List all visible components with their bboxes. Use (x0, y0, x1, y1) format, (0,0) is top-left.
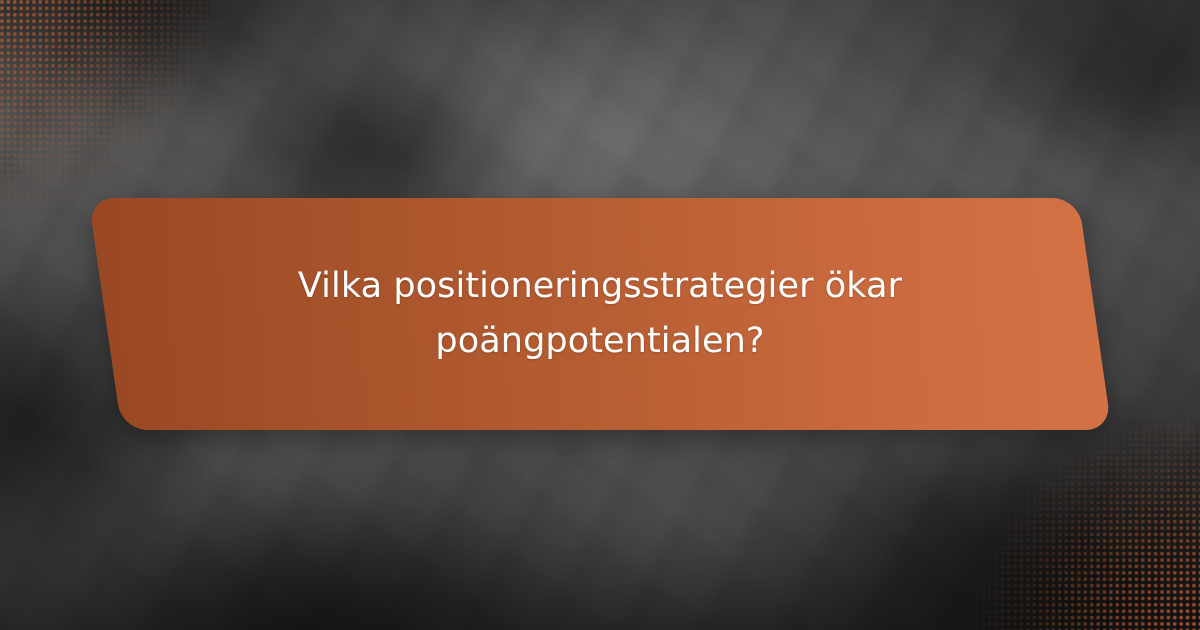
headline-banner: Vilka positioneringsstrategier ökar poän… (105, 198, 1095, 430)
social-card-canvas: Vilka positioneringsstrategier ökar poän… (0, 0, 1200, 630)
page-title: Vilka positioneringsstrategier ökar poän… (280, 259, 920, 370)
banner-text-container: Vilka positioneringsstrategier ökar poän… (105, 198, 1095, 430)
